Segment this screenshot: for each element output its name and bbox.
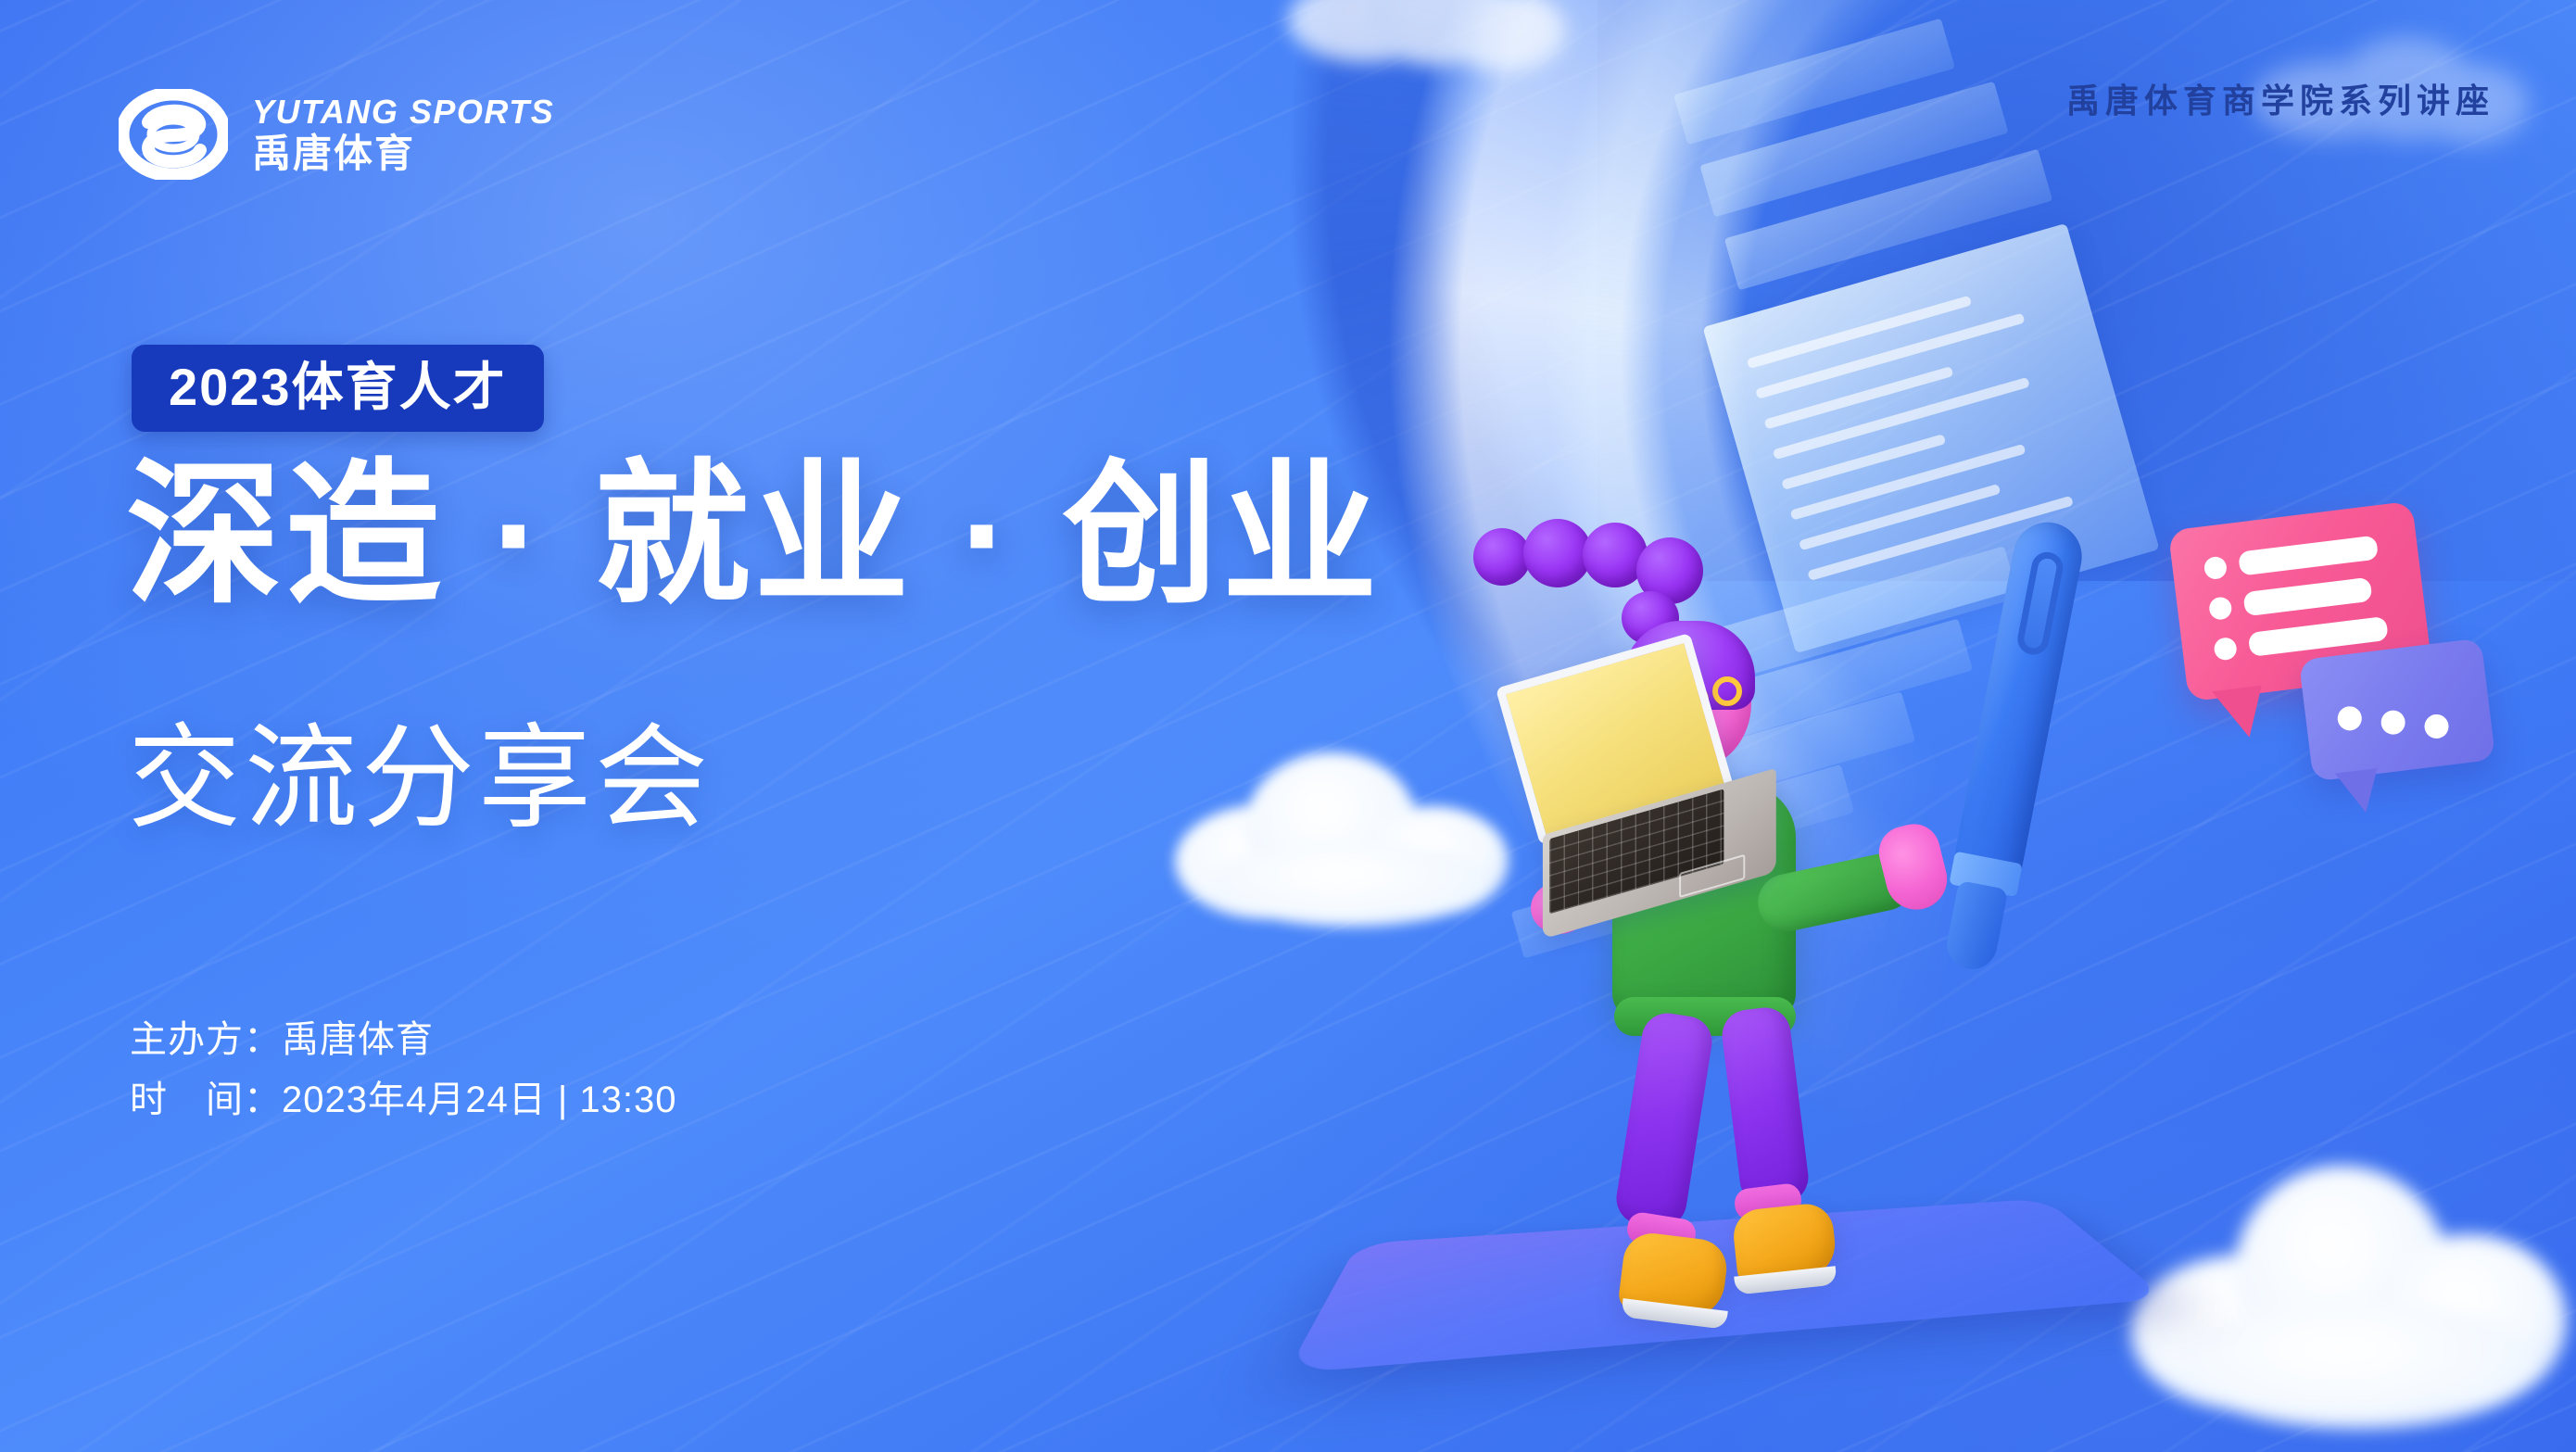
brand-logo[interactable]: YUTANG SPORTS 禹唐体育 [119, 89, 554, 180]
cloud-left [1175, 752, 1509, 928]
time-line: 时 间：2023年4月24日 | 13:30 [130, 1070, 676, 1130]
page-title: 深造 · 就业 · 创业 [126, 452, 1382, 617]
yutang-swirl-logo-icon [119, 89, 228, 180]
event-info: 主办方：禹唐体育 时 间：2023年4月24日 | 13:30 [130, 1010, 676, 1130]
cloud-bottom-right [2131, 1166, 2567, 1434]
brand-name-en: YUTANG SPORTS [252, 95, 554, 129]
organizer-line: 主办方：禹唐体育 [130, 1010, 676, 1070]
series-label: 禹唐体育商学院系列讲座 [2066, 74, 2494, 122]
promo-banner: YUTANG SPORTS 禹唐体育 禹唐体育商学院系列讲座 2023体育人才 … [0, 0, 2576, 1452]
cloud-top [1288, 0, 1566, 96]
page-subtitle: 交流分享会 [128, 719, 712, 839]
year-badge: 2023体育人才 [132, 345, 544, 432]
chat-bubble-typing-icon [2299, 638, 2496, 781]
brand-name-cn: 禹唐体育 [252, 134, 554, 173]
